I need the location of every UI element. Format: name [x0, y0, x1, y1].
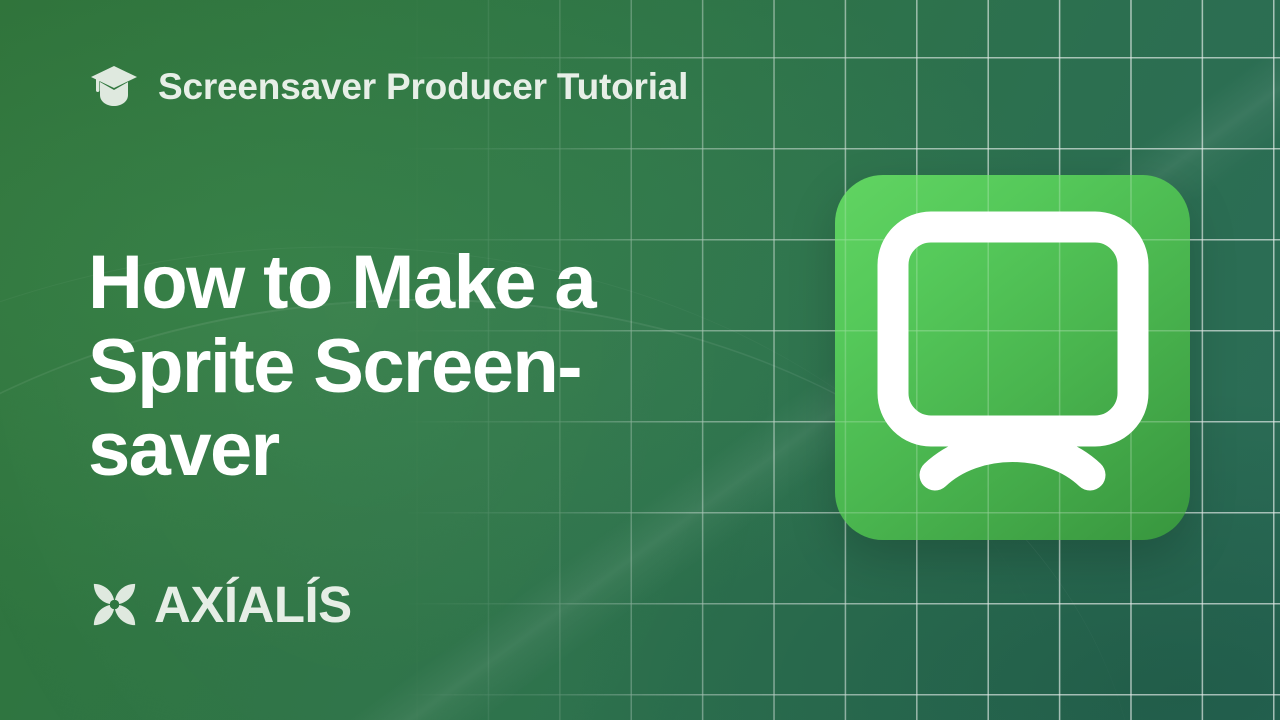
- brand-logo: AXÍALÍS: [88, 578, 352, 631]
- brand-wordmark: AXÍALÍS: [154, 579, 352, 630]
- page-title: How to Make a Sprite Screen- saver: [88, 241, 648, 492]
- graduation-cap-icon: [88, 60, 140, 112]
- eyebrow: Screensaver Producer Tutorial: [88, 60, 688, 112]
- eyebrow-title: Screensaver Producer Tutorial: [158, 68, 688, 105]
- title-card-canvas: Screensaver Producer Tutorial How to Mak…: [0, 0, 1280, 720]
- axialis-pinwheel-icon: [88, 578, 141, 631]
